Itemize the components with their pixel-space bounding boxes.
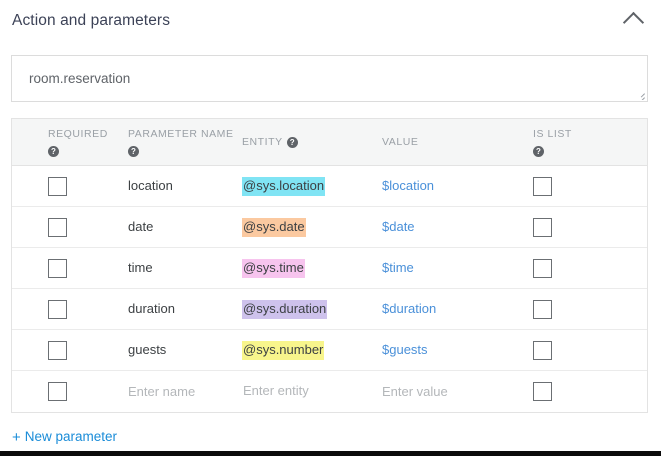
plus-icon: +	[12, 430, 21, 445]
parameter-value: $guests	[382, 342, 428, 357]
action-name-input[interactable]: room.reservation	[11, 55, 648, 102]
new-parameter-button[interactable]: + New parameter	[12, 428, 117, 446]
panel-header: Action and parameters	[0, 0, 661, 42]
required-checkbox[interactable]	[48, 259, 67, 278]
entity-input-placeholder: Enter entity	[242, 382, 310, 401]
is-list-checkbox[interactable]	[533, 300, 552, 319]
column-label-parameter-name: PARAMETER NAME	[128, 127, 234, 142]
cell-required	[12, 218, 102, 237]
is-list-checkbox[interactable]	[533, 259, 552, 278]
textarea-resize-handle[interactable]	[635, 90, 645, 100]
cell-parameter-name[interactable]: guests	[102, 341, 242, 359]
parameter-name-value: location	[128, 178, 173, 193]
action-and-parameters-panel: Action and parameters room.reservation R…	[0, 0, 661, 451]
cell-parameter-name[interactable]: time	[102, 259, 242, 277]
cell-entity[interactable]: @sys.number	[242, 341, 382, 360]
cell-required	[12, 341, 102, 360]
cell-entity[interactable]: @sys.duration	[242, 300, 382, 319]
cell-value[interactable]: Enter value	[382, 383, 522, 401]
cell-value[interactable]: $location	[382, 177, 522, 195]
chevron-up-icon	[622, 12, 643, 33]
entity-value: @sys.time	[242, 259, 305, 278]
cell-parameter-name[interactable]: date	[102, 218, 242, 236]
parameters-table: REQUIRED ? PARAMETER NAME ? ENTITY ? VAL…	[11, 118, 648, 413]
parameter-value: $location	[382, 178, 434, 193]
help-icon-parameter-name[interactable]: ?	[128, 146, 139, 157]
required-checkbox[interactable]	[48, 177, 67, 196]
cell-is-list	[522, 259, 647, 278]
is-list-checkbox[interactable]	[533, 341, 552, 360]
help-icon-required[interactable]: ?	[48, 146, 59, 157]
required-checkbox[interactable]	[48, 218, 67, 237]
cell-parameter-name[interactable]: location	[102, 177, 242, 195]
column-header-parameter-name: PARAMETER NAME ?	[102, 127, 242, 157]
parameter-name-value: date	[128, 219, 153, 234]
parameter-name-value: guests	[128, 342, 166, 357]
cell-is-list	[522, 341, 647, 360]
parameter-name-value: duration	[128, 301, 175, 316]
column-header-required: REQUIRED ?	[12, 127, 102, 157]
required-checkbox[interactable]	[48, 300, 67, 319]
bottom-edge-strip	[0, 451, 661, 456]
table-row: location @sys.location $location	[12, 166, 647, 207]
is-list-checkbox[interactable]	[533, 177, 552, 196]
new-parameter-label: New parameter	[25, 428, 117, 446]
column-header-value: VALUE	[382, 135, 522, 150]
parameter-name-input-placeholder: Enter name	[128, 384, 195, 399]
parameter-value: $date	[382, 219, 415, 234]
cell-value[interactable]: $date	[382, 218, 522, 236]
column-label-is-list: IS LIST	[533, 127, 572, 142]
cell-is-list	[522, 177, 647, 196]
cell-required	[12, 300, 102, 319]
column-label-required: REQUIRED	[48, 127, 108, 142]
cell-is-list	[522, 300, 647, 319]
cell-is-list	[522, 382, 647, 401]
new-parameter-row: Enter name Enter entity Enter value	[12, 371, 647, 412]
cell-parameter-name[interactable]: duration	[102, 300, 242, 318]
is-list-checkbox[interactable]	[533, 218, 552, 237]
parameter-value: $time	[382, 260, 414, 275]
action-field-wrapper: room.reservation	[11, 55, 648, 102]
entity-value: @sys.number	[242, 341, 324, 360]
parameter-name-value: time	[128, 260, 153, 275]
required-checkbox[interactable]	[48, 382, 67, 401]
cell-is-list	[522, 218, 647, 237]
cell-parameter-name[interactable]: Enter name	[102, 383, 242, 401]
cell-value[interactable]: $duration	[382, 300, 522, 318]
cell-entity[interactable]: @sys.date	[242, 218, 382, 237]
entity-value: @sys.date	[242, 218, 306, 237]
help-icon-entity[interactable]: ?	[287, 137, 298, 148]
cell-entity[interactable]: @sys.location	[242, 177, 382, 196]
cell-required	[12, 259, 102, 278]
cell-value[interactable]: $guests	[382, 341, 522, 359]
action-name-value: room.reservation	[29, 70, 130, 88]
help-icon-is-list[interactable]: ?	[533, 146, 544, 157]
column-header-entity: ENTITY ?	[242, 135, 382, 150]
cell-value[interactable]: $time	[382, 259, 522, 277]
is-list-checkbox[interactable]	[533, 382, 552, 401]
column-label-entity: ENTITY	[242, 135, 283, 150]
table-row: date @sys.date $date	[12, 207, 647, 248]
cell-required	[12, 382, 102, 401]
cell-required	[12, 177, 102, 196]
cell-entity[interactable]: Enter entity	[242, 382, 382, 401]
value-input-placeholder: Enter value	[382, 384, 448, 399]
parameter-value: $duration	[382, 301, 436, 316]
collapse-section-button[interactable]	[619, 6, 647, 34]
column-label-value: VALUE	[382, 135, 418, 150]
cell-entity[interactable]: @sys.time	[242, 259, 382, 278]
table-row: duration @sys.duration $duration	[12, 289, 647, 330]
table-header-row: REQUIRED ? PARAMETER NAME ? ENTITY ? VAL…	[12, 119, 647, 166]
required-checkbox[interactable]	[48, 341, 67, 360]
column-header-is-list: IS LIST ?	[522, 127, 647, 157]
table-row: time @sys.time $time	[12, 248, 647, 289]
entity-value: @sys.location	[242, 177, 325, 196]
entity-value: @sys.duration	[242, 300, 327, 319]
page-title: Action and parameters	[12, 11, 170, 31]
table-row: guests @sys.number $guests	[12, 330, 647, 371]
